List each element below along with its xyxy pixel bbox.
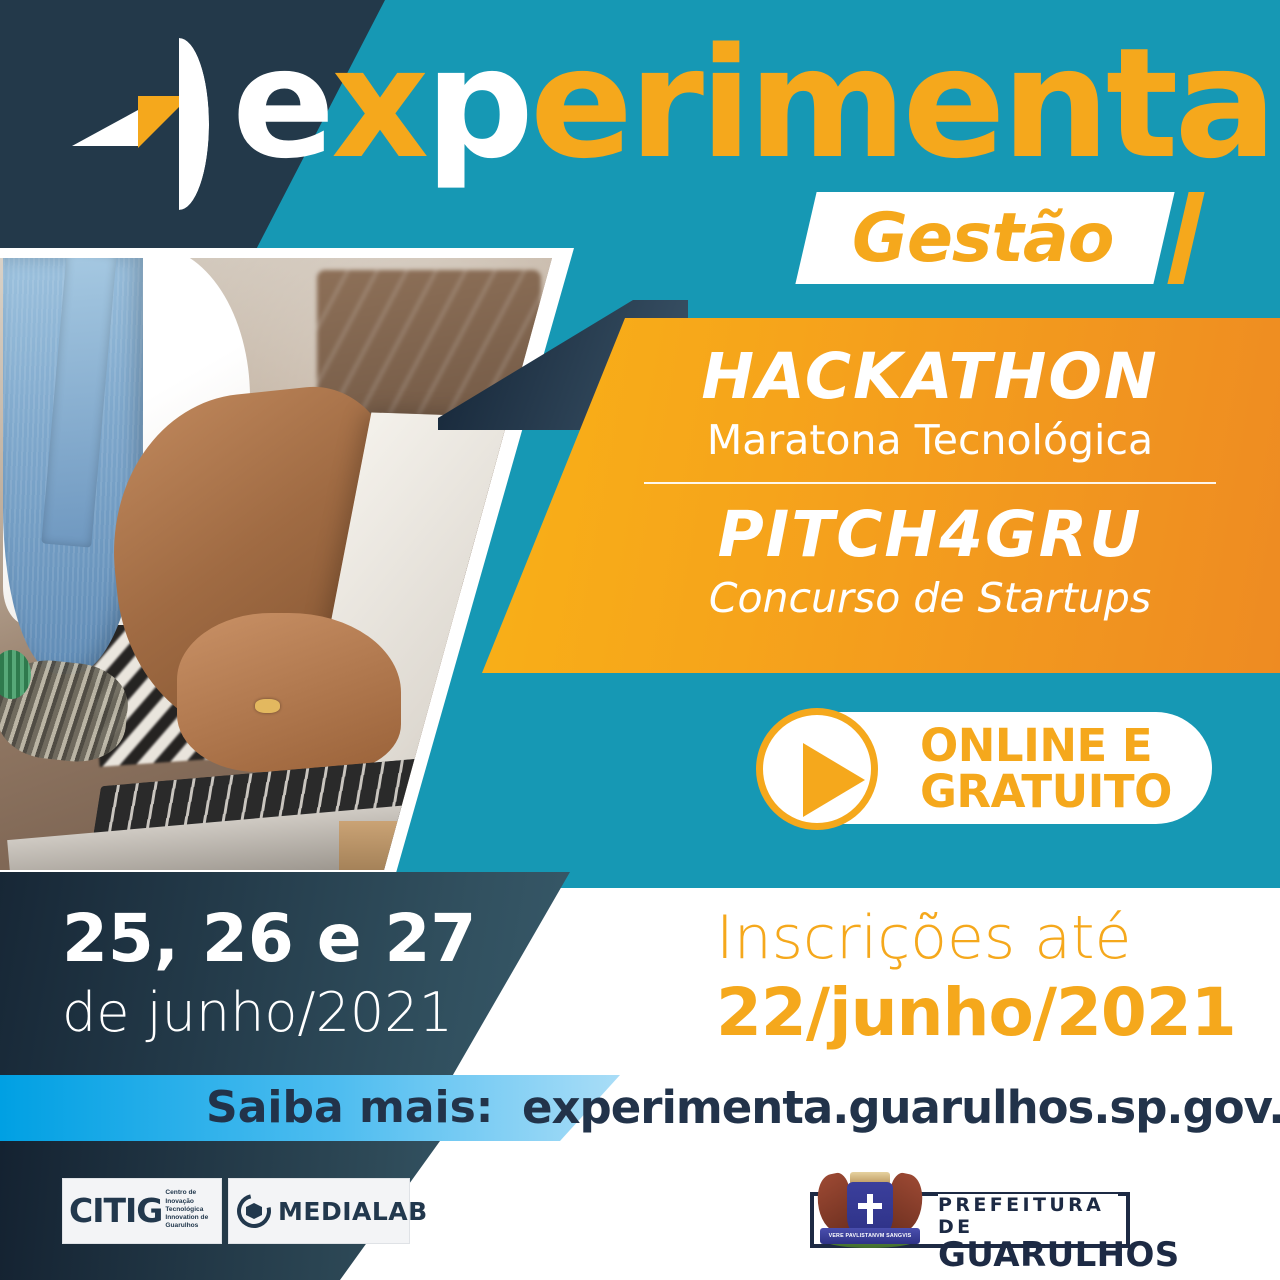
medialab-hex-icon bbox=[237, 1194, 271, 1228]
event-title-hackathon: HACKATHON bbox=[626, 340, 1234, 414]
photo-hand bbox=[177, 613, 401, 772]
citig-tagline: Centro de Inovação Tecnológica Innovatio… bbox=[165, 1189, 215, 1230]
subbrand-label: Gestão bbox=[852, 198, 1114, 280]
website-url[interactable]: experimenta.guarulhos.sp.gov.br bbox=[522, 1082, 1280, 1134]
medialab-wordmark: MEDIALAB bbox=[278, 1197, 428, 1226]
registration-deadline: 22/junho/2021 bbox=[716, 974, 1256, 1052]
poster-canvas: experimenta Gestão HACKATHON Maratona Te… bbox=[0, 0, 1280, 1280]
partner-logo-citig: CITIG Centro de Inovação Tecnológica Inn… bbox=[62, 1178, 222, 1244]
event-month-year: de junho/2021 bbox=[62, 982, 453, 1044]
triangle-white-icon bbox=[72, 110, 138, 146]
event-days: 25, 26 e 27 bbox=[62, 902, 476, 976]
city-hall-text: PREFEITURA DE GUARULHOS bbox=[938, 1194, 1118, 1272]
wordmark-seg-1: e bbox=[232, 15, 331, 192]
badge-text: ONLINE E GRATUITO bbox=[920, 723, 1172, 815]
wordmark-seg-4: erimenta bbox=[530, 15, 1273, 192]
crest-cross-icon bbox=[867, 1194, 873, 1224]
event-subtitle-pitch4gru: Concurso de Startups bbox=[626, 572, 1234, 624]
wordmark-seg-3: p bbox=[425, 15, 530, 192]
subbrand-slash-accent bbox=[1167, 192, 1204, 284]
city-hall-line-1: PREFEITURA DE bbox=[938, 1194, 1118, 1238]
photo-ring bbox=[255, 699, 280, 714]
brand-wordmark: experimenta bbox=[232, 28, 1273, 180]
partner-logo-medialab: MEDIALAB bbox=[228, 1178, 410, 1244]
play-icon bbox=[803, 743, 865, 817]
registration-block: Inscrições até 22/junho/2021 bbox=[716, 902, 1256, 1052]
event-title-pitch4gru: PITCH4GRU bbox=[626, 498, 1234, 572]
city-hall-line-2: GUARULHOS bbox=[938, 1238, 1118, 1272]
play-button-circle[interactable] bbox=[756, 708, 878, 830]
badge-line-1: ONLINE E bbox=[920, 723, 1172, 769]
event-subtitle-hackathon: Maratona Tecnológica bbox=[626, 414, 1234, 466]
citig-wordmark: CITIG bbox=[69, 1194, 162, 1228]
registration-label: Inscrições até bbox=[716, 902, 1256, 974]
online-free-badge[interactable]: ONLINE E GRATUITO bbox=[772, 712, 1212, 824]
badge-line-2: GRATUITO bbox=[920, 769, 1172, 815]
city-hall-logo: VERE PAVLISTANVM SANGVIS MEVS PREFEITURA… bbox=[800, 1170, 1130, 1266]
subbrand-banner: Gestão bbox=[806, 192, 1206, 284]
more-info-label: Saiba mais: bbox=[206, 1082, 493, 1134]
wordmark-seg-2: x bbox=[331, 15, 425, 192]
experimenta-logo-mark bbox=[72, 38, 222, 210]
guarulhos-coat-of-arms-icon: VERE PAVLISTANVM SANGVIS MEVS bbox=[814, 1168, 926, 1264]
crest-motto-ribbon: VERE PAVLISTANVM SANGVIS MEVS bbox=[820, 1228, 920, 1244]
lens-shape-icon bbox=[179, 38, 209, 210]
events-divider bbox=[644, 482, 1216, 484]
events-text-block: HACKATHON Maratona Tecnológica PITCH4GRU… bbox=[626, 340, 1234, 624]
